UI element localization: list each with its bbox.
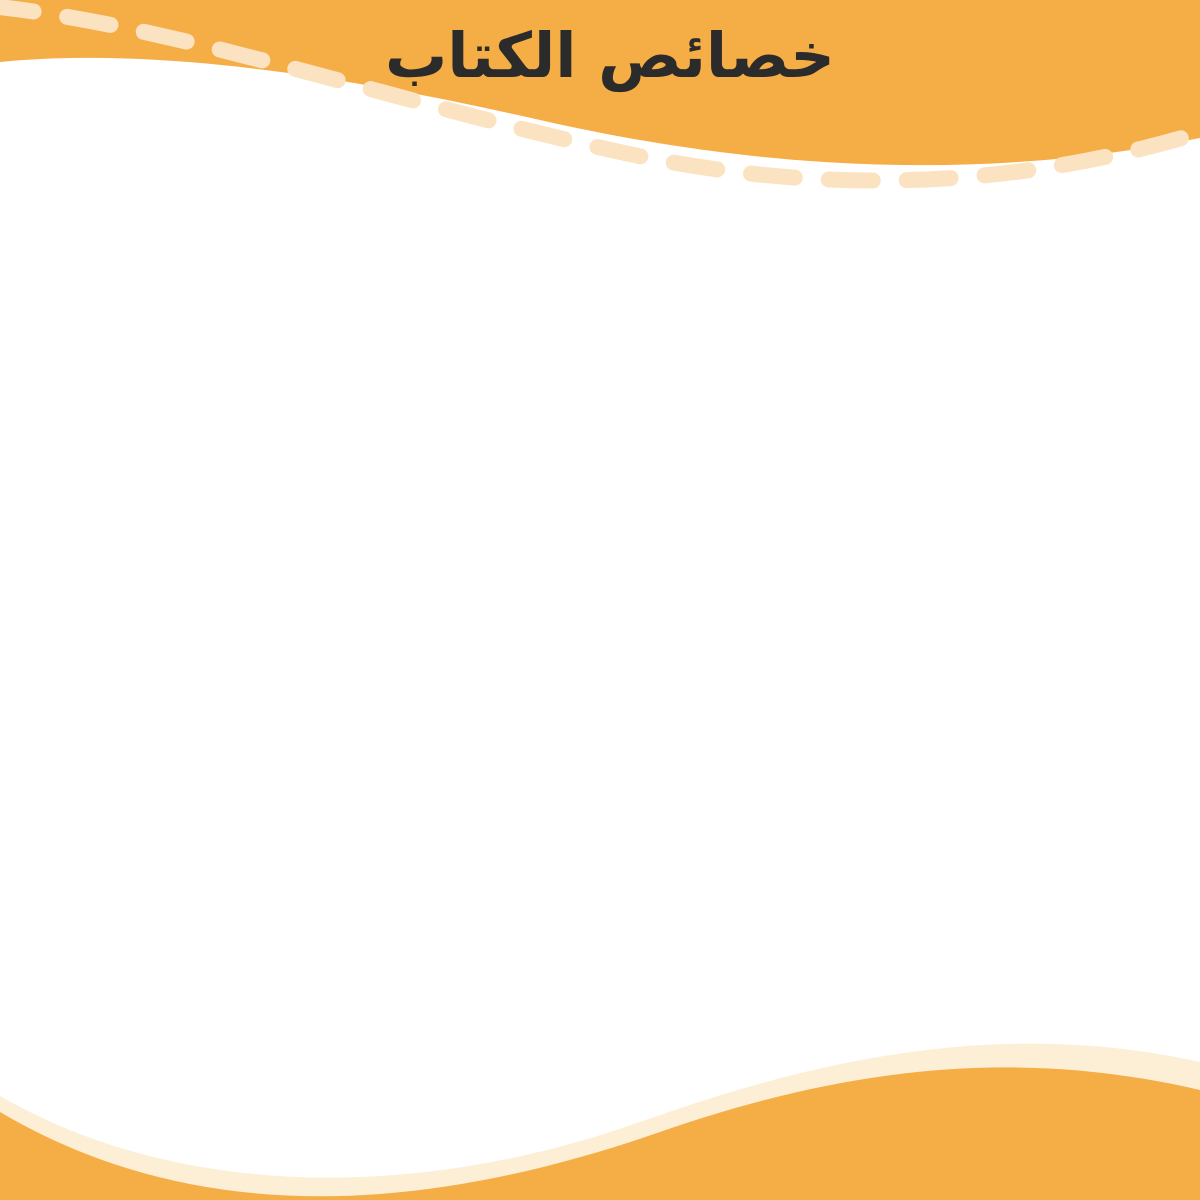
footer-wave-cream	[0, 1044, 1200, 1200]
page-title: خصائص الكتاب	[80, 22, 1140, 90]
poster-canvas: خصائص الكتاب 1	[0, 0, 1200, 1200]
background-decoration	[0, 0, 1200, 1200]
footer-wave-orange	[0, 1067, 1200, 1200]
